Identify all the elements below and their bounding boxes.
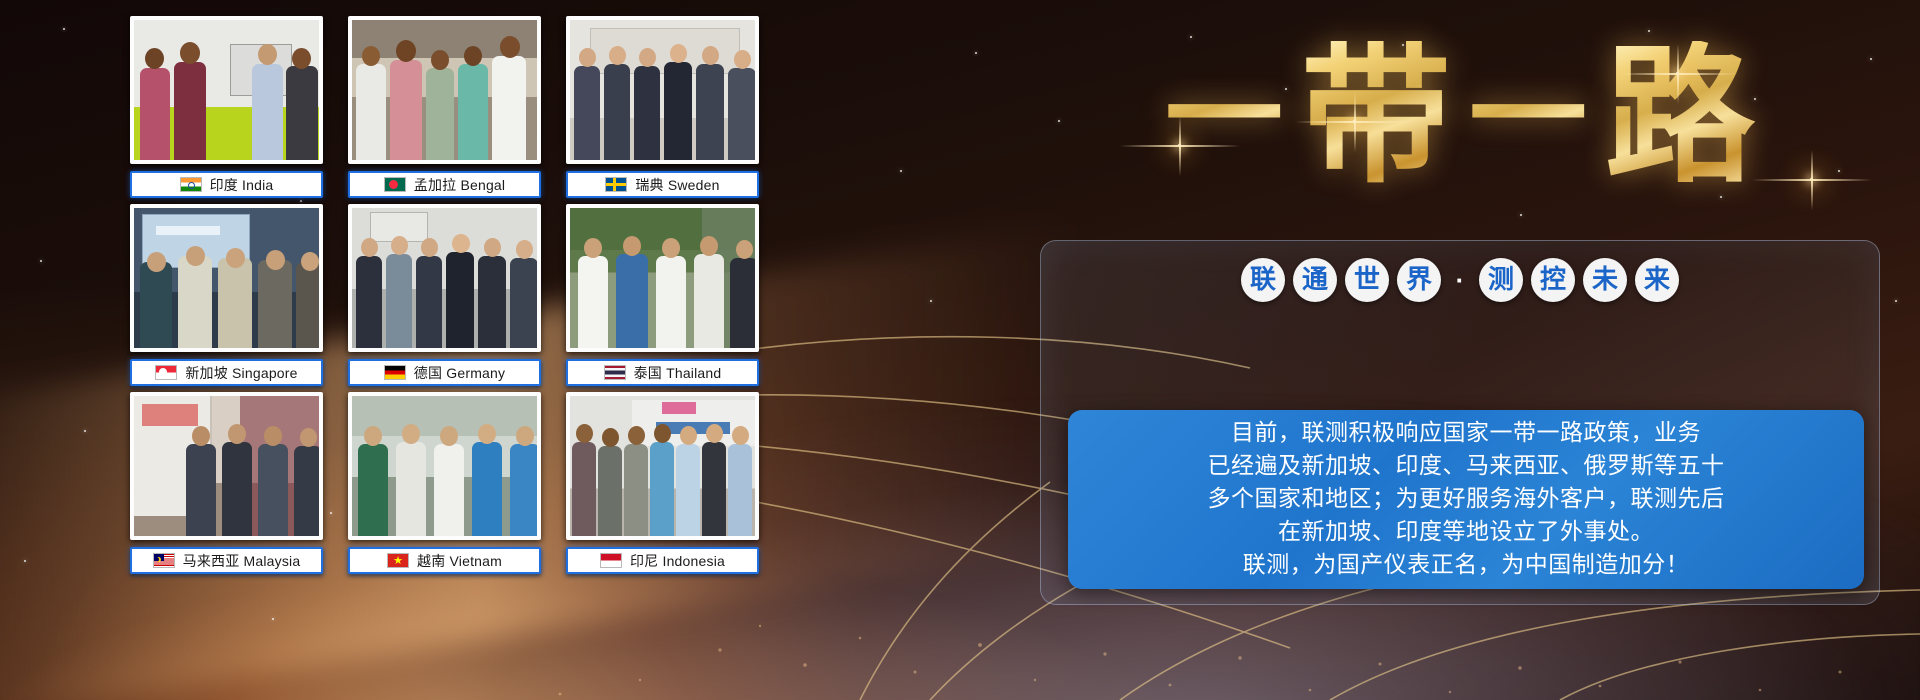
country-photo-grid: 印度 India 孟加拉 Bengal [130, 16, 759, 580]
description-line-1: 目前，联测积极响应国家一带一路政策，业务 [1231, 417, 1701, 450]
slogan-char-3: 世 [1345, 258, 1389, 302]
country-label-thailand: 泰国 Thailand [566, 359, 759, 386]
country-label-malaysia: 马来西亚 Malaysia [130, 547, 323, 574]
india-flag-icon [180, 177, 202, 192]
country-label-text: 马来西亚 Malaysia [183, 551, 301, 571]
banner-stage: 印度 India 孟加拉 Bengal [0, 0, 1920, 700]
slogan-separator-dot: · [1449, 265, 1471, 296]
slogan-char-5: 测 [1479, 258, 1523, 302]
photo-thailand[interactable] [566, 204, 759, 352]
slogan-char-1: 联 [1241, 258, 1285, 302]
description-box: 目前，联测积极响应国家一带一路政策，业务 已经遍及新加坡、印度、马来西亚、俄罗斯… [1068, 410, 1864, 589]
country-label-text: 印度 India [210, 175, 274, 195]
slogan-char-7: 未 [1583, 258, 1627, 302]
description-line-2: 已经遍及新加坡、印度、马来西亚、俄罗斯等五十 [1208, 450, 1725, 483]
slogan-char-2: 通 [1293, 258, 1337, 302]
germany-flag-icon [384, 365, 406, 380]
description-line-3: 多个国家和地区；为更好服务海外客户，联测先后 [1208, 483, 1725, 516]
sparkle-icon [1353, 120, 1356, 123]
country-label-indonesia: 印尼 Indonesia [566, 547, 759, 574]
country-label-text: 德国 Germany [414, 363, 505, 383]
gallery-item-singapore[interactable]: 新加坡 Singapore [130, 204, 323, 392]
photo-germany[interactable] [348, 204, 541, 352]
gallery-item-vietnam[interactable]: 越南 Vietnam [348, 392, 541, 580]
indonesia-flag-icon [600, 553, 622, 568]
bangladesh-flag-icon [384, 177, 406, 192]
sparkle-icon [1676, 72, 1679, 75]
photo-singapore[interactable] [130, 204, 323, 352]
gallery-item-thailand[interactable]: 泰国 Thailand [566, 204, 759, 392]
country-label-bengal: 孟加拉 Bengal [348, 171, 541, 198]
country-label-text: 孟加拉 Bengal [414, 175, 505, 195]
country-label-vietnam: 越南 Vietnam [348, 547, 541, 574]
slogan-row: 联 通 世 界 · 测 控 未 来 [1040, 258, 1880, 302]
country-label-text: 印尼 Indonesia [630, 551, 725, 571]
singapore-flag-icon [155, 365, 177, 380]
gallery-item-malaysia[interactable]: 马来西亚 Malaysia [130, 392, 323, 580]
photo-indonesia[interactable] [566, 392, 759, 540]
slogan-char-4: 界 [1397, 258, 1441, 302]
headline-char-3: 一 [1469, 57, 1587, 175]
country-label-singapore: 新加坡 Singapore [130, 359, 323, 386]
slogan-char-6: 控 [1531, 258, 1575, 302]
photo-india[interactable] [130, 16, 323, 164]
vietnam-flag-icon [387, 553, 409, 568]
gallery-item-sweden[interactable]: 瑞典 Sweden [566, 16, 759, 204]
description-line-4: 在新加坡、印度等地设立了外事处。 [1278, 516, 1654, 549]
country-label-text: 泰国 Thailand [634, 363, 722, 383]
gallery-item-germany[interactable]: 德国 Germany [348, 204, 541, 392]
photo-bengal[interactable] [348, 16, 541, 164]
headline-char-1: 一 [1165, 57, 1283, 175]
sparkle-icon [1178, 144, 1181, 147]
photo-malaysia[interactable] [130, 392, 323, 540]
gallery-item-bengal[interactable]: 孟加拉 Bengal [348, 16, 541, 204]
thailand-flag-icon [604, 365, 626, 380]
country-label-sweden: 瑞典 Sweden [566, 171, 759, 198]
headline-char-2: 带 [1301, 41, 1451, 191]
photo-vietnam[interactable] [348, 392, 541, 540]
description-line-5: 联测，为国产仪表正名，为中国制造加分！ [1243, 549, 1690, 582]
country-label-india: 印度 India [130, 171, 323, 198]
headline-char-4: 路 [1605, 41, 1755, 191]
headline-calligraphy: 一 带 一 路 [1020, 8, 1900, 223]
sweden-flag-icon [605, 177, 627, 192]
gallery-item-indonesia[interactable]: 印尼 Indonesia [566, 392, 759, 580]
country-label-text: 新加坡 Singapore [185, 363, 297, 383]
slogan-char-8: 来 [1635, 258, 1679, 302]
gallery-item-india[interactable]: 印度 India [130, 16, 323, 204]
photo-sweden[interactable] [566, 16, 759, 164]
country-label-text: 瑞典 Sweden [635, 175, 719, 195]
sparkle-icon [1810, 178, 1813, 181]
malaysia-flag-icon [153, 553, 175, 568]
country-label-text: 越南 Vietnam [417, 551, 502, 571]
country-label-germany: 德国 Germany [348, 359, 541, 386]
